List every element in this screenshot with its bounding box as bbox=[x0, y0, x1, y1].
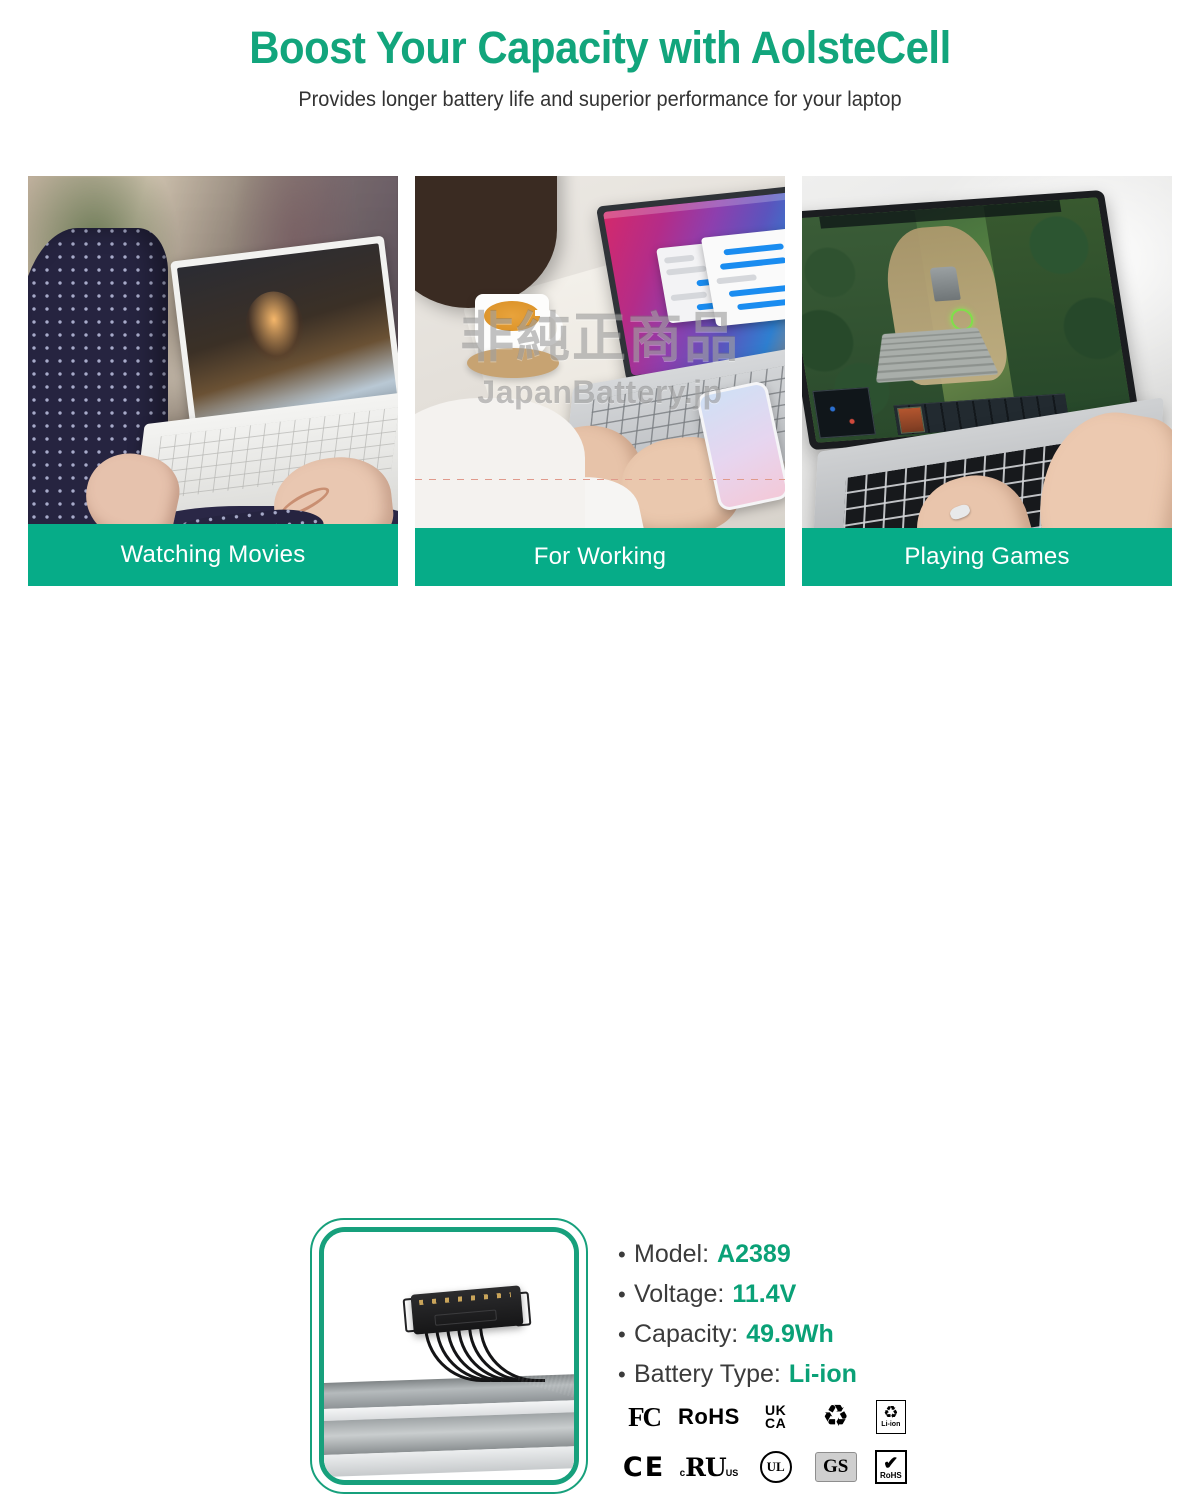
certification-badges: FC RoHS UK CA ♻ ♻ Li-ion bbox=[616, 1392, 916, 1492]
usecase-card-for-working[interactable]: 非純正商品 JapanBattery.jp For Working bbox=[415, 176, 785, 586]
usecase-card-playing-games[interactable]: Playing Games bbox=[802, 176, 1172, 586]
usecase-caption-playing-games: Playing Games bbox=[802, 528, 1172, 586]
li-ion-recycle-icon: ♻ Li-ion bbox=[866, 1400, 916, 1434]
usecase-card-watching-movies[interactable]: Watching Movies bbox=[28, 176, 398, 586]
spec-value-battery-type: Li-ion bbox=[789, 1360, 857, 1389]
usecase-photo-for-working: 非純正商品 JapanBattery.jp bbox=[415, 176, 785, 528]
ukca-icon: UK CA bbox=[746, 1404, 806, 1431]
bullet-icon: • bbox=[618, 1324, 634, 1346]
spec-value-capacity: 49.9Wh bbox=[746, 1320, 834, 1349]
certification-row-2: CE c RU US UL GS ✔ RoHS bbox=[616, 1442, 916, 1492]
page-header: Boost Your Capacity with AolsteCell Prov… bbox=[0, 0, 1200, 112]
spec-row-battery-type: • Battery Type: Li-ion bbox=[618, 1360, 1038, 1389]
spec-label-battery-type: Battery Type: bbox=[634, 1360, 781, 1389]
spec-list: • Model: A2389 • Voltage: 11.4V • Capaci… bbox=[618, 1240, 1038, 1400]
page-title: Boost Your Capacity with AolsteCell bbox=[42, 22, 1158, 74]
fcc-icon: FC bbox=[616, 1402, 672, 1433]
certification-row-1: FC RoHS UK CA ♻ ♻ Li-ion bbox=[616, 1392, 916, 1442]
bullet-icon: • bbox=[618, 1244, 634, 1266]
rohs-check-icon: ✔ RoHS bbox=[866, 1450, 916, 1484]
usecase-card-row: Watching Movies bbox=[28, 176, 1172, 586]
usecase-photo-playing-games bbox=[802, 176, 1172, 528]
rohs-icon: RoHS bbox=[672, 1404, 746, 1430]
usecase-photo-watching-movies bbox=[28, 176, 398, 524]
product-image-frame[interactable] bbox=[310, 1218, 588, 1494]
bullet-icon: • bbox=[618, 1364, 634, 1386]
usecase-caption-watching-movies: Watching Movies bbox=[28, 524, 398, 586]
product-detail-section: • Model: A2389 • Voltage: 11.4V • Capaci… bbox=[0, 606, 1200, 900]
spec-label-voltage: Voltage: bbox=[634, 1280, 724, 1309]
spec-row-model: • Model: A2389 bbox=[618, 1240, 1038, 1269]
gs-mark-icon: GS bbox=[806, 1452, 866, 1482]
spec-value-voltage: 11.4V bbox=[732, 1280, 796, 1309]
spec-label-capacity: Capacity: bbox=[634, 1320, 738, 1349]
page-subtitle: Provides longer battery life and superio… bbox=[30, 88, 1170, 112]
usecase-caption-for-working: For Working bbox=[415, 528, 785, 586]
ce-icon: CE bbox=[616, 1452, 672, 1483]
product-connector-photo bbox=[324, 1232, 574, 1480]
spec-value-model: A2389 bbox=[717, 1240, 791, 1269]
spec-row-voltage: • Voltage: 11.4V bbox=[618, 1280, 1038, 1309]
spec-label-model: Model: bbox=[634, 1240, 709, 1269]
spec-row-capacity: • Capacity: 49.9Wh bbox=[618, 1320, 1038, 1349]
recycle-icon: ♻ bbox=[806, 1402, 866, 1432]
ul-listed-icon: UL bbox=[746, 1451, 806, 1483]
c-ul-us-icon: c RU US bbox=[672, 1453, 746, 1482]
bullet-icon: • bbox=[618, 1284, 634, 1306]
